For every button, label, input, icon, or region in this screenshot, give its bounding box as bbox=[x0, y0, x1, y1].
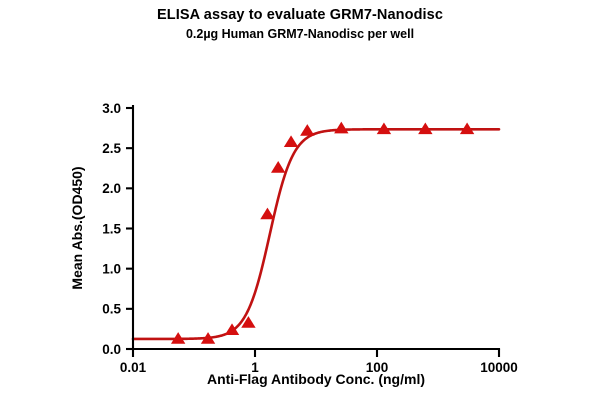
fit-curve bbox=[133, 129, 499, 339]
x-axis-label: Anti-Flag Antibody Conc. (ng/ml) bbox=[207, 371, 425, 387]
y-tick-label: 1.0 bbox=[102, 261, 121, 276]
y-tick-label: 3.0 bbox=[102, 101, 121, 116]
plot-area: 0.00.51.01.52.02.53.0 0.01110010000 Anti… bbox=[0, 0, 600, 400]
y-tick-label: 2.0 bbox=[102, 181, 121, 196]
y-tick-label: 2.5 bbox=[102, 141, 121, 156]
data-point-marker bbox=[284, 135, 298, 147]
x-tick-label: 10000 bbox=[480, 360, 518, 375]
y-tick-label: 0.0 bbox=[102, 342, 121, 357]
data-point-marker bbox=[271, 161, 285, 173]
y-tick-label: 1.5 bbox=[102, 221, 121, 236]
data-point-marker bbox=[260, 208, 274, 220]
y-tick-label: 0.5 bbox=[102, 302, 121, 317]
y-axis-ticks: 0.00.51.01.52.02.53.0 bbox=[102, 101, 133, 357]
data-point-marker bbox=[300, 124, 314, 136]
fit-curve-layer bbox=[133, 129, 499, 339]
data-point-marker bbox=[334, 122, 348, 134]
data-markers-layer bbox=[171, 122, 474, 344]
x-tick-label: 0.01 bbox=[120, 360, 147, 375]
y-axis-label: Mean Abs.(OD450) bbox=[69, 166, 85, 289]
chart-figure: ELISA assay to evaluate GRM7-Nanodisc 0.… bbox=[0, 0, 600, 400]
